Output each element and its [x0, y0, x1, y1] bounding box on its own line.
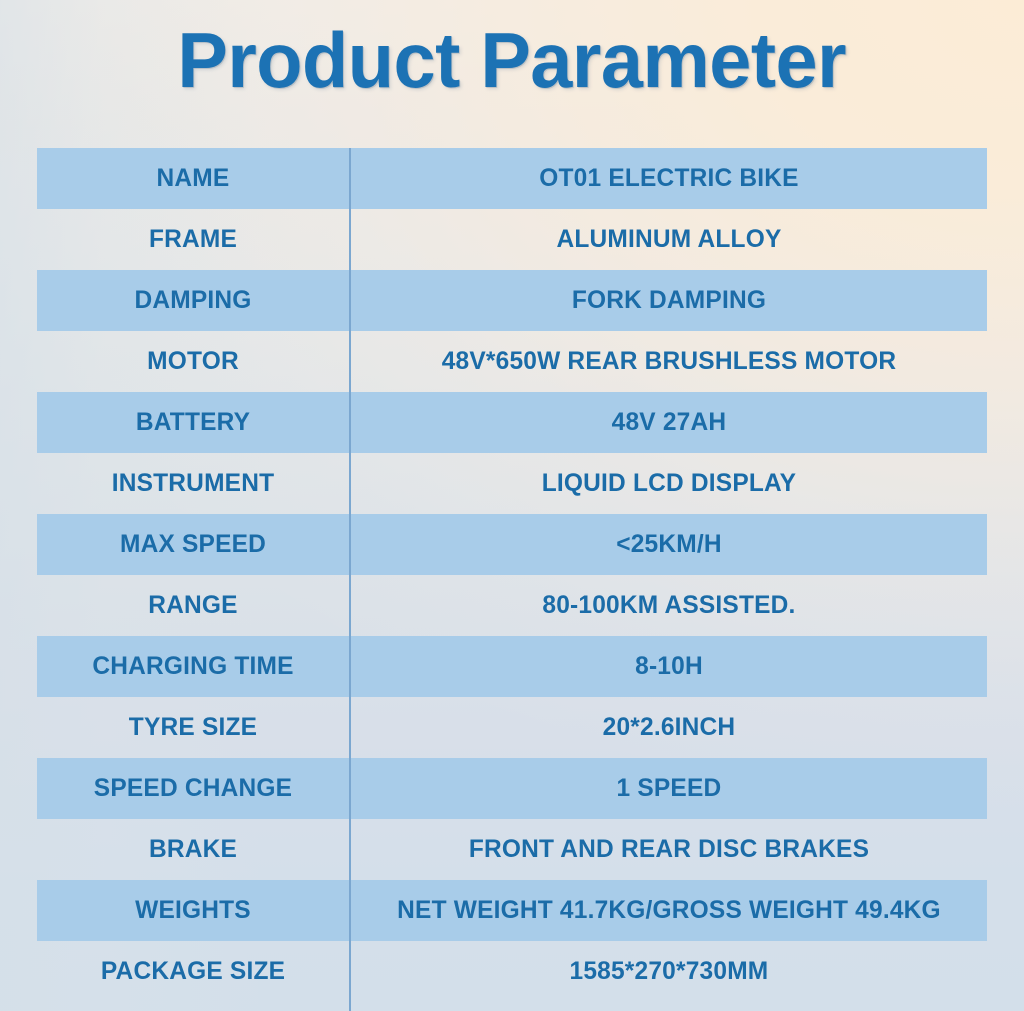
table-row: CHARGING TIME8-10H: [37, 636, 987, 697]
spec-label: TYRE SIZE: [40, 697, 346, 758]
specification-table: NAMEOT01 ELECTRIC BIKEFRAMEALUMINUM ALLO…: [37, 148, 987, 1002]
table-row: MOTOR48V*650W REAR BRUSHLESS MOTOR: [37, 331, 987, 392]
table-row: WEIGHTSNET WEIGHT 41.7KG/GROSS WEIGHT 49…: [37, 880, 987, 941]
table-row: MAX SPEED<25KM/H: [37, 514, 987, 575]
spec-label: PACKAGE SIZE: [40, 941, 346, 1002]
table-row: SPEED CHANGE1 SPEED: [37, 758, 987, 819]
spec-value: 20*2.6INCH: [355, 697, 980, 758]
spec-value: OT01 ELECTRIC BIKE: [355, 148, 980, 209]
page-title: Product Parameter: [178, 21, 847, 99]
table-row: RANGE80-100KM ASSISTED.: [37, 575, 987, 636]
spec-value: FRONT AND REAR DISC BRAKES: [355, 819, 980, 880]
spec-label: NAME: [40, 148, 346, 209]
spec-value: ALUMINUM ALLOY: [355, 209, 980, 270]
spec-value: 1 SPEED: [355, 758, 980, 819]
spec-value: FORK DAMPING: [355, 270, 980, 331]
spec-value: NET WEIGHT 41.7KG/GROSS WEIGHT 49.4KG: [355, 880, 980, 941]
spec-value: <25KM/H: [355, 514, 980, 575]
spec-value: 1585*270*730MM: [355, 941, 980, 1002]
table-row: BRAKEFRONT AND REAR DISC BRAKES: [37, 819, 987, 880]
spec-label: BATTERY: [40, 392, 346, 453]
table-row: INSTRUMENTLIQUID LCD DISPLAY: [37, 453, 987, 514]
spec-label: MOTOR: [40, 331, 346, 392]
spec-label: DAMPING: [40, 270, 346, 331]
spec-label: SPEED CHANGE: [40, 758, 346, 819]
spec-value: 48V*650W REAR BRUSHLESS MOTOR: [355, 331, 980, 392]
spec-value: 48V 27AH: [355, 392, 980, 453]
spec-label: FRAME: [40, 209, 346, 270]
table-row: BATTERY48V 27AH: [37, 392, 987, 453]
spec-label: RANGE: [40, 575, 346, 636]
spec-value: 80-100KM ASSISTED.: [355, 575, 980, 636]
table-row: DAMPINGFORK DAMPING: [37, 270, 987, 331]
spec-label: INSTRUMENT: [40, 453, 346, 514]
table-row: NAMEOT01 ELECTRIC BIKE: [37, 148, 987, 209]
table-row: FRAMEALUMINUM ALLOY: [37, 209, 987, 270]
table-row: TYRE SIZE20*2.6INCH: [37, 697, 987, 758]
spec-label: CHARGING TIME: [40, 636, 346, 697]
table-row: PACKAGE SIZE1585*270*730MM: [37, 941, 987, 1002]
spec-label: WEIGHTS: [40, 880, 346, 941]
spec-value: 8-10H: [355, 636, 980, 697]
spec-label: BRAKE: [40, 819, 346, 880]
page-content: Product Parameter NAMEOT01 ELECTRIC BIKE…: [0, 0, 1024, 1011]
page-title-container: Product Parameter: [0, 0, 1024, 120]
spec-label: MAX SPEED: [40, 514, 346, 575]
spec-value: LIQUID LCD DISPLAY: [355, 453, 980, 514]
product-parameter-page: Product Parameter NAMEOT01 ELECTRIC BIKE…: [0, 0, 1024, 1011]
